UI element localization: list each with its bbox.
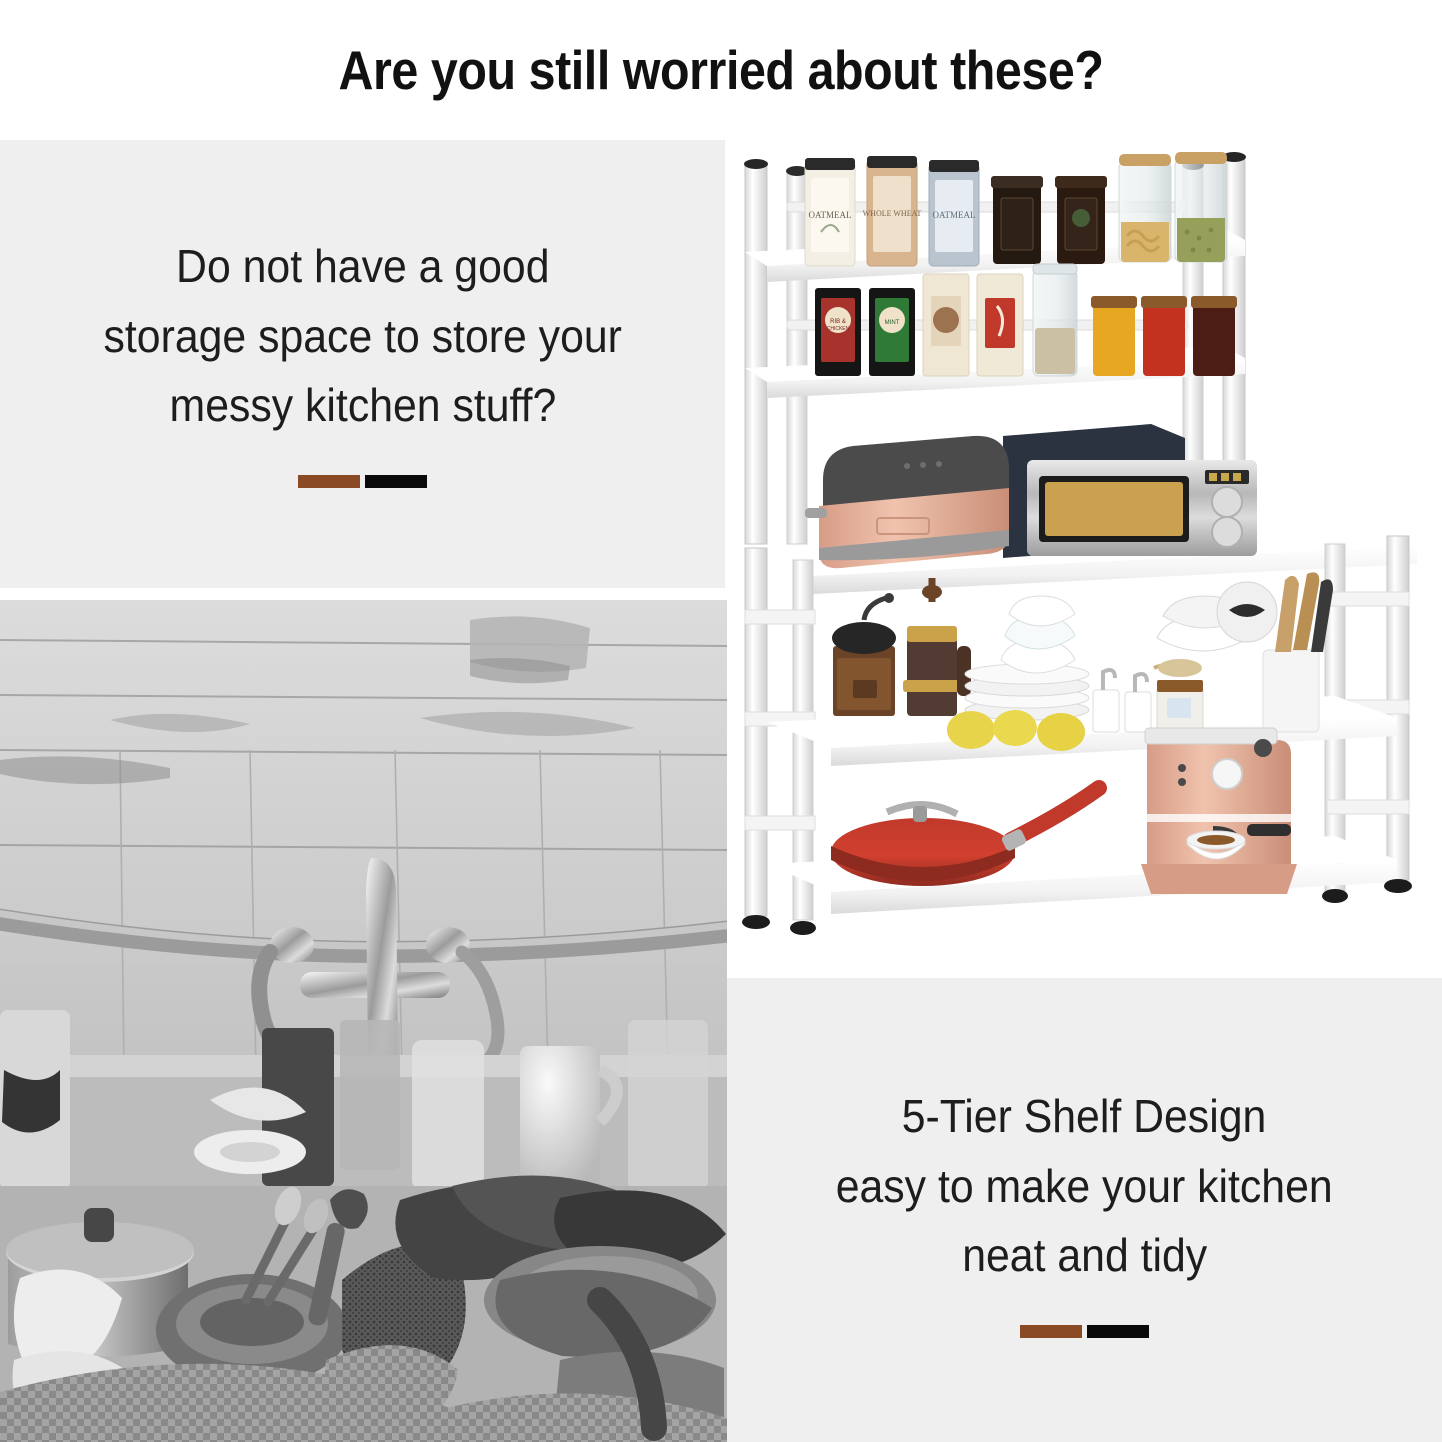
product-infographic: Are you still worried about these? Do no… bbox=[0, 0, 1442, 1442]
problem-panel: Do not have a good storage space to stor… bbox=[0, 140, 725, 588]
problem-text-block: Do not have a good storage space to stor… bbox=[84, 232, 641, 442]
messy-kitchen-photo bbox=[0, 600, 727, 1442]
benefit-line-3: neat and tidy bbox=[962, 1221, 1207, 1291]
benefit-line-1: 5-Tier Shelf Design bbox=[902, 1082, 1267, 1152]
svg-text:RIB &: RIB & bbox=[830, 319, 846, 325]
divider-black-bar bbox=[365, 475, 427, 488]
svg-text:WHOLE WHEAT: WHOLE WHEAT bbox=[863, 209, 922, 218]
divider-brown-bar bbox=[1020, 1325, 1082, 1338]
benefit-panel: 5-Tier Shelf Design easy to make your ki… bbox=[727, 978, 1442, 1442]
benefit-text-block: 5-Tier Shelf Design easy to make your ki… bbox=[817, 1082, 1351, 1292]
divider-black-bar bbox=[1087, 1325, 1149, 1338]
problem-line-3: messy kitchen stuff? bbox=[169, 371, 556, 441]
svg-text:OATMEAL: OATMEAL bbox=[933, 210, 976, 220]
shelf-product-photo: OATMEAL WHOLE WHEAT OATMEAL bbox=[727, 140, 1442, 978]
problem-divider bbox=[298, 475, 427, 488]
divider-brown-bar bbox=[298, 475, 360, 488]
benefit-divider bbox=[1020, 1325, 1149, 1338]
problem-line-2: storage space to store your bbox=[103, 302, 621, 372]
svg-text:MINT: MINT bbox=[885, 320, 900, 326]
svg-text:OATMEAL: OATMEAL bbox=[809, 210, 852, 220]
problem-line-1: Do not have a good bbox=[176, 232, 549, 302]
page-title: Are you still worried about these? bbox=[87, 0, 1356, 140]
benefit-line-2: easy to make your kitchen bbox=[836, 1152, 1333, 1222]
svg-text:CHICKEN: CHICKEN bbox=[827, 326, 850, 332]
